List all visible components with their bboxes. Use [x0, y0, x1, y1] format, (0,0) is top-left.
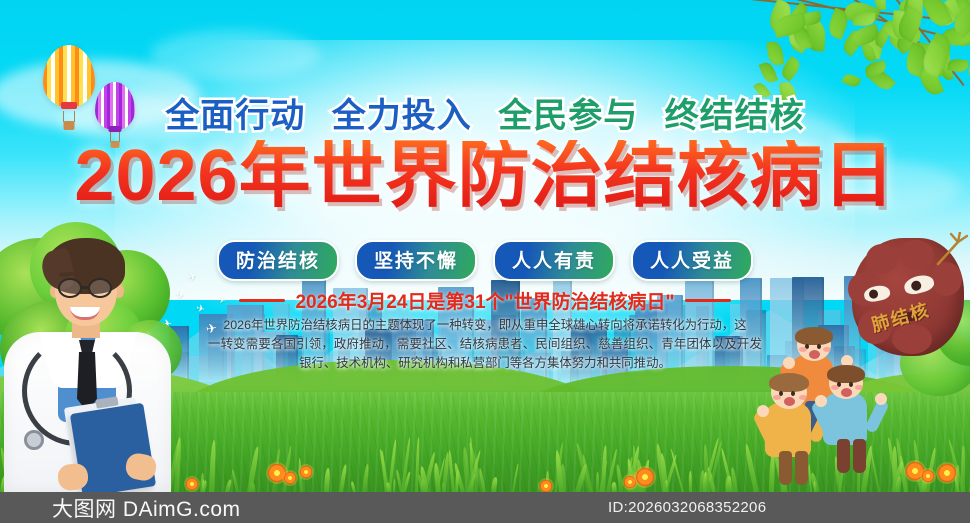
child-leg — [779, 451, 792, 485]
child-blush — [799, 395, 807, 400]
child-hand — [875, 393, 887, 405]
dash-right — [685, 299, 731, 302]
watermark-text: 大图网 DAimG.com — [52, 493, 241, 523]
child-leg — [853, 439, 866, 473]
poster-canvas: ✈✈✈✈✈✈✈✈ — [0, 0, 970, 523]
paragraph-line-3: 银行、技术机构、研究机构和私营部门等各方集体努力和共同推动。 — [185, 354, 785, 373]
keyword-pill-4[interactable]: 人人受益 — [631, 240, 753, 281]
keyword-pill-1[interactable]: 防治结核 — [217, 240, 339, 281]
page-title: 2026年世界防治结核病日 — [0, 140, 970, 212]
child-hair — [827, 365, 865, 383]
footer-bar: 大图网 DAimG.com ID:2026032068352206 — [0, 492, 970, 523]
slogan-gap — [476, 97, 494, 135]
child-mouth — [841, 388, 852, 397]
child-hair — [795, 327, 833, 345]
child-leg — [795, 451, 808, 485]
dateline: 2026年3月24日是第31个"世界防治结核病日" — [0, 287, 970, 314]
slogan-part-2: 全力投入 — [328, 97, 476, 135]
keyword-pill-3[interactable]: 人人有责 — [493, 240, 615, 281]
child-hand — [815, 395, 827, 407]
child-eye — [791, 391, 795, 396]
child-mouth — [809, 350, 820, 359]
slogan-gap — [309, 97, 327, 135]
slogan-part-3: 全民参与 — [494, 97, 642, 135]
child-hand — [757, 405, 769, 417]
paragraph-line-1: 2026年世界防治结核病日的主题体现了一种转变，即从重申全球雄心转向将承诺转化为… — [185, 316, 785, 335]
keyword-pill-row: 防治结核坚持不懈人人有责人人受益 — [0, 240, 970, 281]
child-hair — [769, 373, 809, 392]
child-leg — [837, 439, 850, 473]
child-blue-shirt — [815, 365, 885, 485]
image-id-text: ID:2026032068352206 — [608, 499, 766, 516]
dateline-text: 2026年3月24日是第31个"世界防治结核病日" — [295, 292, 674, 313]
child-blush — [773, 395, 781, 400]
paragraph-line-2: 一转变需要各国引领，政府推动，需要社区、结核病患者、民间组织、慈善组织、青年团体… — [185, 335, 785, 354]
body-paragraph: 2026年世界防治结核病日的主题体现了一种转变，即从重申全球雄心转向将承诺转化为… — [185, 316, 785, 374]
child-eye — [849, 382, 853, 387]
slogan-line: 全面行动 全力投入 全民参与 终结结核 — [0, 88, 970, 137]
keyword-pill-2[interactable]: 坚持不懈 — [355, 240, 477, 281]
dash-left — [239, 299, 285, 302]
slogan-part-4: 终结结核 — [661, 97, 809, 135]
child-blush — [855, 385, 863, 390]
slogan-part-1: 全面行动 — [161, 97, 309, 135]
child-blush — [823, 347, 831, 352]
slogan-gap — [642, 97, 660, 135]
child-eye — [817, 344, 821, 349]
